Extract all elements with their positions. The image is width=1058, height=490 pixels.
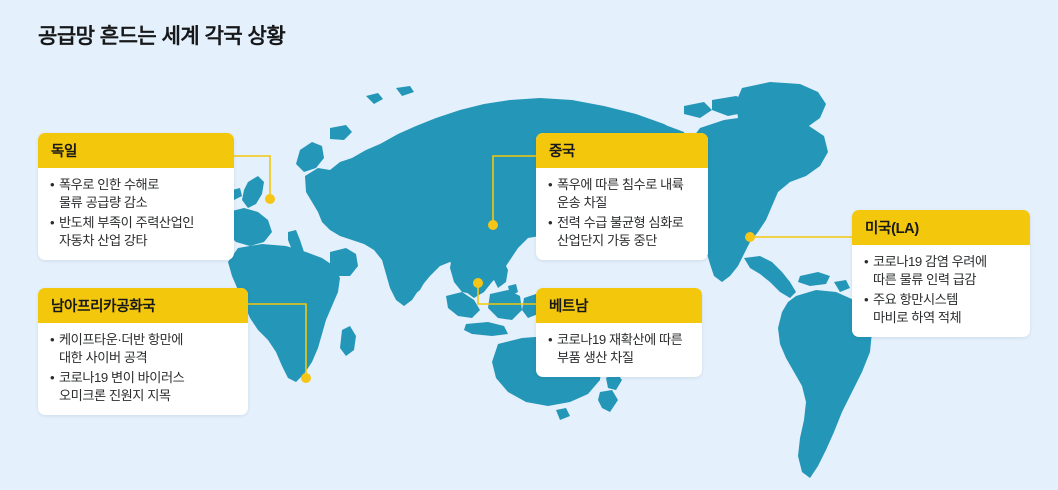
bullet-glyph: • [548,331,552,349]
bullet-item: •주요 항만시스템 마비로 하역 적체 [864,291,1018,327]
callout-china-body: •폭우에 따른 침수로 내륙 운송 차질 •전력 수급 불균형 심화로 산업단지… [536,168,708,260]
bullet-glyph: • [50,369,54,387]
bullet-text: 케이프타운·더반 항만에 대한 사이버 공격 [59,332,183,365]
callout-south-africa-title: 남아프리카공화국 [38,288,248,323]
bullet-text: 반도체 부족이 주력산업인 자동차 산업 강타 [59,215,194,248]
bullet-text: 폭우로 인한 수해로 물류 공급량 감소 [59,177,159,210]
bullet-glyph: • [548,214,552,232]
bullet-item: •폭우에 따른 침수로 내륙 운송 차질 [548,176,696,212]
bullet-glyph: • [50,214,54,232]
bullet-glyph: • [864,253,868,271]
bullet-item: •코로나19 재확산에 따른 부품 생산 차질 [548,331,690,367]
bullet-item: •폭우로 인한 수해로 물류 공급량 감소 [50,176,222,212]
bullet-item: •코로나19 변이 바이러스 오미크론 진원지 지목 [50,369,236,405]
callout-china[interactable]: 중국 •폭우에 따른 침수로 내륙 운송 차질 •전력 수급 불균형 심화로 산… [536,133,708,260]
callout-south-africa[interactable]: 남아프리카공화국 •케이프타운·더반 항만에 대한 사이버 공격 •코로나19 … [38,288,248,415]
callout-south-africa-body: •케이프타운·더반 항만에 대한 사이버 공격 •코로나19 변이 바이러스 오… [38,323,248,415]
supply-chain-infographic: 공급망 흔드는 세계 각국 상황 [0,0,1058,490]
callout-usa-title: 미국(LA) [852,210,1030,245]
bullet-item: •반도체 부족이 주력산업인 자동차 산업 강타 [50,214,222,250]
callout-germany-body: •폭우로 인한 수해로 물류 공급량 감소 •반도체 부족이 주력산업인 자동차… [38,168,234,260]
bullet-text: 코로나19 감염 우려에 따른 물류 인력 급감 [873,254,987,287]
bullet-glyph: • [864,291,868,309]
bullet-text: 폭우에 따른 침수로 내륙 운송 차질 [557,177,683,210]
bullet-glyph: • [548,176,552,194]
bullet-text: 주요 항만시스템 마비로 하역 적체 [873,292,961,325]
callout-vietnam-body: •코로나19 재확산에 따른 부품 생산 차질 [536,323,702,377]
callout-vietnam-title: 베트남 [536,288,702,323]
bullet-item: •코로나19 감염 우려에 따른 물류 인력 급감 [864,253,1018,289]
callout-germany-title: 독일 [38,133,234,168]
callout-usa-body: •코로나19 감염 우려에 따른 물류 인력 급감 •주요 항만시스템 마비로 … [852,245,1030,337]
bullet-item: •케이프타운·더반 항만에 대한 사이버 공격 [50,331,236,367]
bullet-text: 코로나19 재확산에 따른 부품 생산 차질 [557,332,682,365]
callout-usa[interactable]: 미국(LA) •코로나19 감염 우려에 따른 물류 인력 급감 •주요 항만시… [852,210,1030,337]
bullet-item: •전력 수급 불균형 심화로 산업단지 가동 중단 [548,214,696,250]
bullet-text: 코로나19 변이 바이러스 오미크론 진원지 지목 [59,370,184,403]
callout-vietnam[interactable]: 베트남 •코로나19 재확산에 따른 부품 생산 차질 [536,288,702,377]
bullet-glyph: • [50,331,54,349]
bullet-text: 전력 수급 불균형 심화로 산업단지 가동 중단 [557,215,683,248]
callout-germany[interactable]: 독일 •폭우로 인한 수해로 물류 공급량 감소 •반도체 부족이 주력산업인 … [38,133,234,260]
bullet-glyph: • [50,176,54,194]
callout-china-title: 중국 [536,133,708,168]
